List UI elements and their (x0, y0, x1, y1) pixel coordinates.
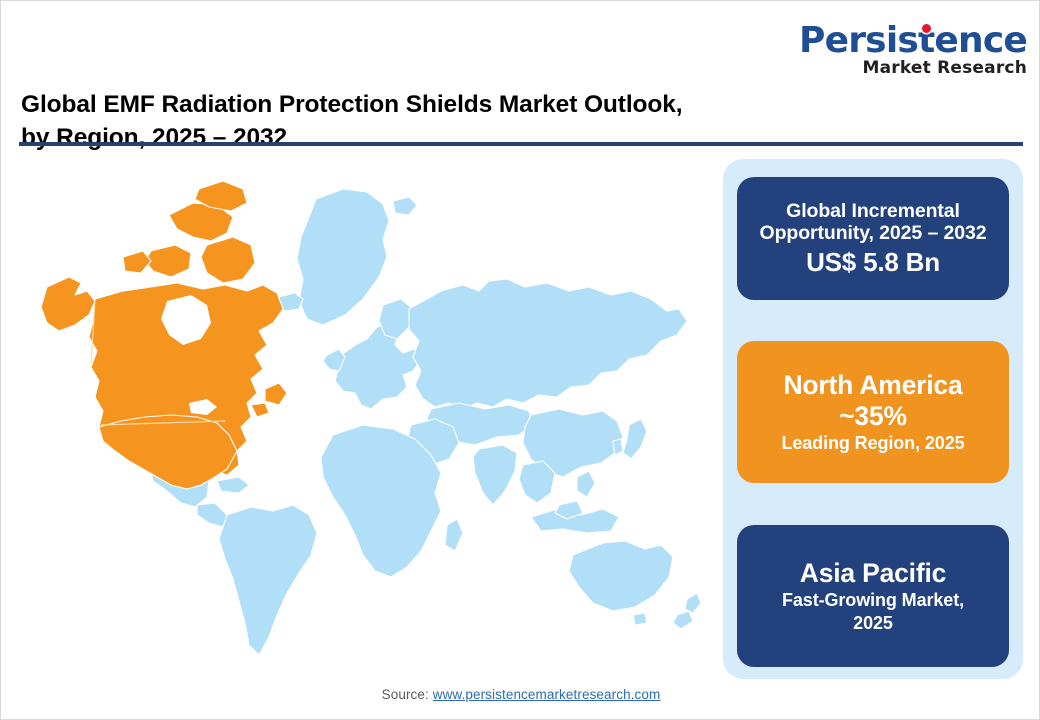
map-region-korea (613, 439, 623, 455)
stat-card-2-caption: Leading Region, 2025 (781, 433, 964, 454)
stat-card-1-value: US$ 5.8 Bn (806, 247, 940, 277)
map-region-scandinavia (379, 299, 413, 339)
stat-card-2-share: ~35% (839, 401, 907, 432)
map-region-southeast-asia (519, 461, 555, 503)
source-url-link[interactable]: www.persistencemarketresearch.com (433, 687, 661, 702)
map-region-nova-scotia (251, 403, 269, 417)
map-region-madagascar (445, 519, 463, 551)
map-region-russia (409, 279, 687, 409)
world-map (11, 159, 717, 669)
map-region-europe (335, 323, 421, 409)
page-title-line-2: by Region, 2025 – 2032 (21, 122, 791, 154)
map-region-greenland (297, 189, 389, 325)
map-region-philippines (577, 471, 595, 497)
stat-card-3-caption-line-2: 2025 (853, 613, 893, 634)
stat-card-global-incremental-opportunity[interactable]: Global Incremental Opportunity, 2025 – 2… (737, 177, 1009, 300)
stat-card-fast-growing-market[interactable]: Asia Pacific Fast-Growing Market, 2025 (737, 525, 1009, 667)
map-region-victoria-island (145, 245, 191, 277)
stat-card-3-caption-line-1: Fast-Growing Market, (782, 590, 964, 611)
stats-panel: Global Incremental Opportunity, 2025 – 2… (723, 159, 1023, 679)
map-region-newfoundland (265, 383, 287, 405)
map-region-south-america (219, 505, 317, 655)
map-region-india (473, 445, 517, 505)
map-region-usa (99, 415, 237, 489)
stat-card-2-region: North America (783, 370, 962, 401)
world-map-svg (11, 159, 717, 669)
map-region-new-zealand (685, 593, 701, 613)
header: Persistence Market Research Global EMF R… (1, 1, 1040, 151)
map-region-alaska (41, 277, 95, 331)
logo-wordmark: Persistence (799, 23, 1027, 59)
map-region-tasmania (633, 613, 647, 625)
map-region-banks-island (123, 251, 151, 273)
map-highlight-north-america (41, 181, 287, 489)
map-region-central-america (197, 503, 227, 527)
logo-red-dot-icon (922, 24, 931, 33)
map-region-svalbard (393, 197, 417, 215)
source-line: Source: www.persistencemarketresearch.co… (1, 687, 1040, 702)
brand-logo: Persistence Market Research (789, 23, 1027, 77)
stat-card-3-region: Asia Pacific (800, 558, 946, 589)
map-region-caribbean (217, 477, 249, 493)
infographic-canvas: Persistence Market Research Global EMF R… (0, 0, 1040, 720)
map-region-baffin-island (201, 237, 255, 283)
source-label: Source: (382, 687, 433, 702)
map-region-new-zealand-south (673, 611, 693, 629)
title-divider (19, 142, 1023, 146)
stat-card-1-line-1: Global Incremental (786, 200, 960, 223)
logo-tagline: Market Research (789, 60, 1027, 77)
logo-wordmark-text: Persistence (799, 20, 1027, 61)
page-title-line-1: Global EMF Radiation Protection Shields … (21, 89, 791, 121)
map-region-africa (321, 425, 441, 577)
stat-card-1-line-2: Opportunity, 2025 – 2032 (760, 222, 987, 245)
map-region-japan (623, 419, 647, 459)
stat-card-leading-region[interactable]: North America ~35% Leading Region, 2025 (737, 341, 1009, 483)
map-region-australia (569, 541, 673, 611)
